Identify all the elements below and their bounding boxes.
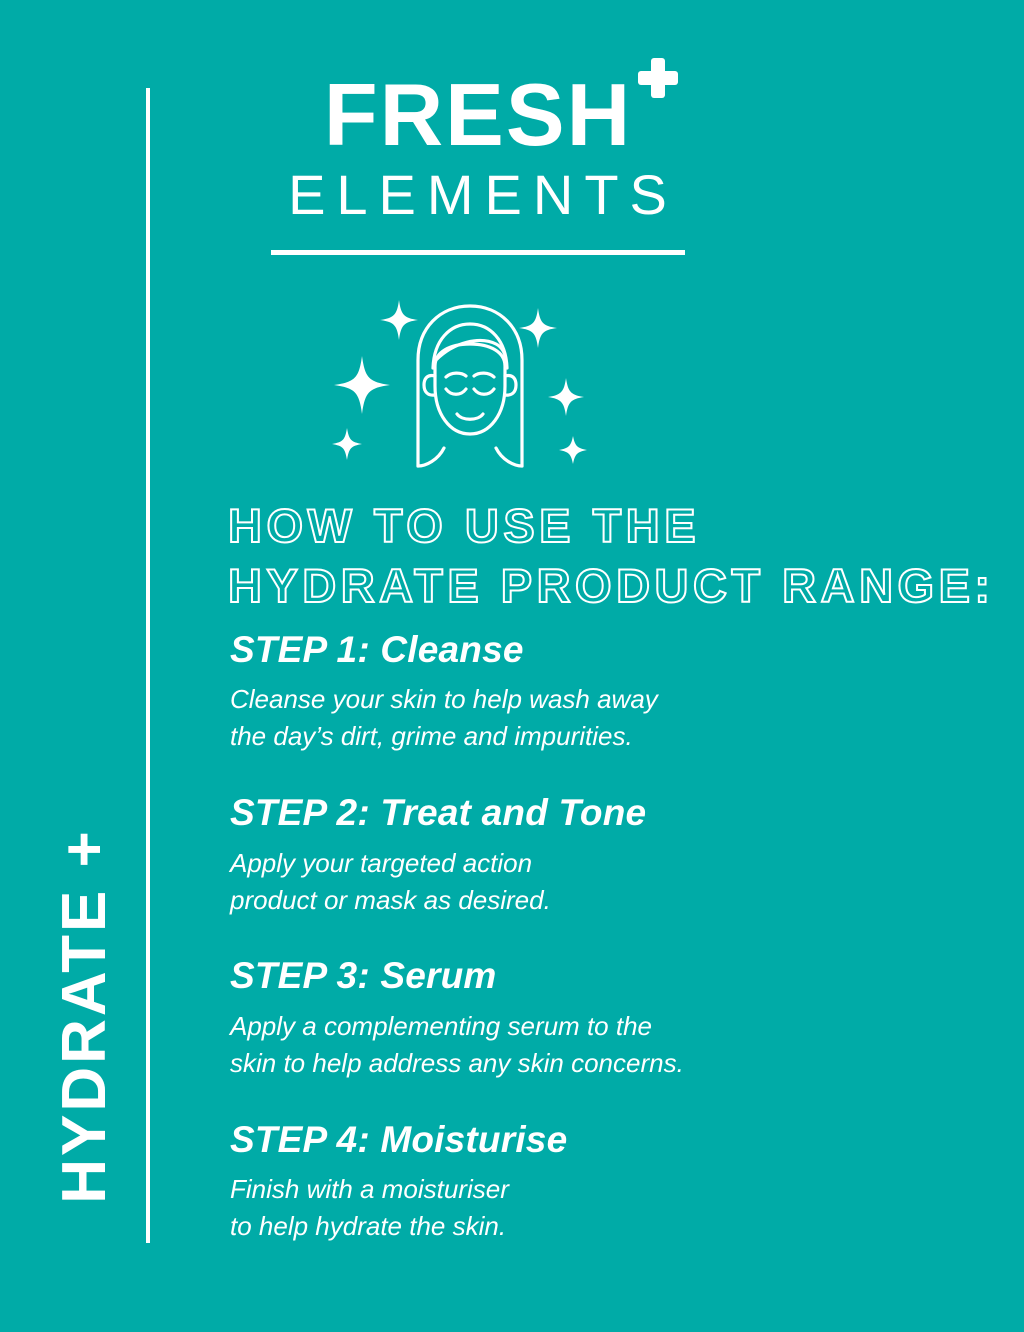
step-title: STEP 2: Treat and Tone <box>230 791 1010 835</box>
section-heading-line-2: HYDRATE PRODUCT RANGE: <box>228 556 988 616</box>
step-body-line: Finish with a moisturiser <box>230 1171 1010 1208</box>
step-body-line: skin to help address any skin concerns. <box>230 1045 1010 1082</box>
step-body: Cleanse your skin to help wash away the … <box>230 681 1010 755</box>
step-body-line: product or mask as desired. <box>230 882 1010 919</box>
step-item: STEP 2: Treat and Tone Apply your target… <box>230 791 1010 918</box>
logo-lockup: FRESH ELEMENTS <box>218 70 738 255</box>
logo-primary-word: FRESH <box>324 70 632 160</box>
step-body-line: Apply a complementing serum to the <box>230 1008 1010 1045</box>
step-title: STEP 1: Cleanse <box>230 628 1010 672</box>
vertical-brand-label: HYDRATE + <box>54 756 116 1276</box>
step-body: Apply a complementing serum to the skin … <box>230 1008 1010 1082</box>
logo-underline <box>271 250 685 255</box>
section-heading-line-1: HOW TO USE THE <box>228 496 988 556</box>
logo-secondary-word: ELEMENTS <box>218 162 738 228</box>
step-body-line: the day’s dirt, grime and impurities. <box>230 718 1010 755</box>
step-body: Apply your targeted action product or ma… <box>230 845 1010 919</box>
poster-canvas: HYDRATE + FRESH ELEMENTS <box>0 0 1024 1332</box>
step-body: Finish with a moisturiser to help hydrat… <box>230 1171 1010 1245</box>
step-title: STEP 4: Moisturise <box>230 1118 1010 1162</box>
step-title: STEP 3: Serum <box>230 954 1010 998</box>
step-item: STEP 1: Cleanse Cleanse your skin to hel… <box>230 628 1010 755</box>
section-heading: HOW TO USE THE HYDRATE PRODUCT RANGE: <box>228 496 988 616</box>
steps-list: STEP 1: Cleanse Cleanse your skin to hel… <box>230 628 1010 1245</box>
step-body-line: to help hydrate the skin. <box>230 1208 1010 1245</box>
vertical-divider <box>146 88 150 1243</box>
female-face-sparkles-icon <box>330 288 610 483</box>
step-body-line: Apply your targeted action <box>230 845 1010 882</box>
plus-icon <box>638 58 678 98</box>
logo-wordmark: FRESH <box>324 70 632 160</box>
step-item: STEP 4: Moisturise Finish with a moistur… <box>230 1118 1010 1245</box>
step-item: STEP 3: Serum Apply a complementing seru… <box>230 954 1010 1081</box>
step-body-line: Cleanse your skin to help wash away <box>230 681 1010 718</box>
